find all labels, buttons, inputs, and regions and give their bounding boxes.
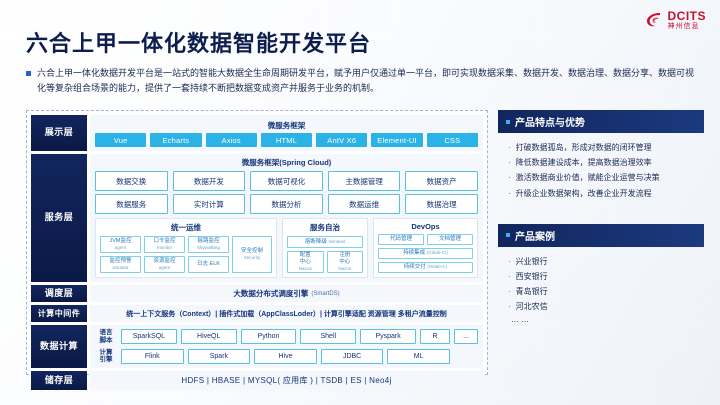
ops-cell-security-cn: 安全控制 (241, 248, 263, 255)
advantage-text-4: 升级企业数据架构，改善企业开发流程 (516, 186, 652, 201)
storage-layer-body: HDFS | HBASE | MYSQL( 应用库 ) | TSDB | ES … (90, 371, 483, 390)
compute-language-row: 语言 脚本 SparkSQL HiveQL Python Shell Pyspa… (95, 329, 478, 345)
service-modules-row-2: 数据服务 实时计算 数据分析 数据运维 数据治理 (95, 194, 478, 214)
case-item-2: · 西安银行 (508, 269, 694, 284)
module-data-development[interactable]: 数据开发 (173, 171, 246, 191)
logo-name: DCITS (668, 10, 707, 22)
head-square-icon-cases (506, 233, 510, 237)
engine-spark[interactable]: Spark (188, 349, 251, 364)
advantage-item-2: · 降低数据建设成本，提高数据治理效率 (508, 155, 694, 170)
service-modules-row-1: 数据交换 数据开发 数据可视化 主数据管理 数据资产 (95, 171, 478, 191)
advantage-item-3: · 激活数据商业价值，赋能企业运营与决策 (508, 170, 694, 185)
tech-tag-html[interactable]: HTML (261, 133, 312, 147)
panel-title-devops: DevOps (378, 222, 473, 231)
card-head-cases: 产品案例 (498, 224, 704, 247)
card-body-advantages: · 打破数据孤岛，形成对数据的闭环管理 · 降低数据建设成本，提高数据治理效率 … (498, 133, 704, 207)
tech-tag-echarts[interactable]: Echarts (150, 133, 201, 147)
advantage-text-3: 激活数据商业价值，赋能企业运营与决策 (516, 170, 660, 185)
ops-grid: JVM监控 agent 口令监控 monitor 链路监控 Skywalking (100, 236, 272, 273)
middleware-text: 统一上下文服务（Context）| 插件式加载（AppClassLoder）| … (90, 305, 483, 322)
autonomy-fuse-cn: 熔断降级 (305, 239, 327, 245)
ops-cell-jvm-monitor-cn: JVM监控 (109, 238, 131, 245)
ops-cell-log-elk[interactable]: 日志 ELK (188, 256, 229, 273)
module-data-service[interactable]: 数据服务 (95, 194, 168, 214)
ops-security-wrap: 安全控制 Security (232, 236, 272, 273)
registry-center-en: Nacos (338, 266, 351, 272)
lang-sparksql[interactable]: SparkSQL (121, 329, 177, 344)
schedule-engine-en: (SmartDS) (311, 291, 339, 297)
ops-cell-trace-monitor[interactable]: 链路监控 Skywalking (188, 236, 229, 253)
ci-cn: 持续集成 (403, 250, 425, 256)
layer-row-service: 服务层 微服务框架(Spring Cloud) 数据交换 数据开发 数据可视化 … (31, 154, 483, 282)
layer-row-compute: 数据 计算 语言 脚本 SparkSQL HiveQL Python Shell… (31, 325, 483, 368)
compute-engine-label: 计算 引擎 (95, 349, 117, 365)
bullet-dot-icon: · (508, 284, 511, 299)
service-layer-body: 微服务框架(Spring Cloud) 数据交换 数据开发 数据可视化 主数据管… (90, 154, 483, 282)
autonomy-cell-circuit-breaker[interactable]: 熔断降级 Sentinel (287, 236, 363, 248)
layer-label-compute: 数据 计算 (31, 325, 87, 368)
ops-cell-security-en: Security (244, 255, 261, 261)
schedule-engine-cn: 大数据分布式调度引擎 (233, 288, 308, 299)
ops-cell-alerting-en: actuator (112, 265, 129, 271)
bullet-dot-icon: · (508, 140, 511, 155)
subtitle-text: 六合上甲一体化数据开发平台是一站式的智能大数据全生命周期研发平台，赋予用户仅通过… (37, 66, 698, 96)
layer-row-storage: 储存层 HDFS | HBASE | MYSQL( 应用库 ) | TSDB |… (31, 371, 483, 390)
advantage-text-2: 降低数据建设成本，提高数据治理效率 (516, 155, 652, 170)
devops-top-row: 代码管理 文档管理 (378, 234, 473, 245)
compute-layer-body: 语言 脚本 SparkSQL HiveQL Python Shell Pyspa… (90, 325, 483, 368)
lang-pyspark[interactable]: Pyspark (360, 329, 416, 344)
tech-tag-css[interactable]: CSS (427, 133, 478, 147)
bullet-dot-icon: · (508, 186, 511, 201)
autonomy-fuse-en: Sentinel (328, 239, 345, 244)
tech-tag-antv[interactable]: AntV X6 (316, 133, 367, 147)
advantage-text-1: 打破数据孤岛，形成对数据的闭环管理 (516, 140, 652, 155)
bullet-square-icon (26, 71, 31, 76)
tech-tag-vue[interactable]: Vue (95, 133, 146, 147)
panel-service-autonomy: 服务自治 熔断降级 Sentinel 配置 中心 (282, 218, 368, 278)
ops-cell-log-elk-cn: 日志 ELK (197, 261, 220, 268)
case-text-1: 兴业银行 (516, 254, 548, 269)
module-master-data-management[interactable]: 主数据管理 (328, 171, 401, 191)
engine-hive[interactable]: Hive (254, 349, 317, 364)
module-data-analysis[interactable]: 数据分析 (250, 194, 323, 214)
cd-label: 持续交付 (Gitlab-C) (404, 264, 447, 271)
devops-cells: 代码管理 文档管理 持续集成 (Gitlab-CI) 持续交付 (378, 234, 473, 273)
display-layer-body: 微服务框架 Vue Echarts Axios HTML AntV X6 Ele… (90, 115, 483, 151)
lang-hiveql[interactable]: HiveQL (181, 329, 237, 344)
panel-devops: DevOps 代码管理 文档管理 持续集成 (Gitlab-CI) (373, 218, 478, 278)
layer-label-schedule: 调度层 (31, 285, 87, 302)
module-data-visualization[interactable]: 数据可视化 (250, 171, 323, 191)
dcits-swirl-icon (644, 10, 664, 30)
advantage-item-4: · 升级企业数据架构，改善企业开发流程 (508, 186, 694, 201)
lang-more[interactable]: ... (454, 329, 478, 344)
cd-cn: 持续交付 (404, 264, 426, 270)
schedule-layer-body: 大数据分布式调度引擎 (SmartDS) (90, 285, 483, 302)
architecture-diagram: 展示层 微服务框架 Vue Echarts Axios HTML AntV X6… (26, 110, 488, 375)
engine-ml[interactable]: ML (387, 349, 450, 364)
case-text-4: 河北农信 (516, 299, 548, 314)
engine-flink[interactable]: Flink (121, 349, 184, 364)
brand-logo: DCITS 神州信息 (644, 10, 707, 30)
config-center-en: Nacos (299, 266, 312, 272)
page-title: 六合上甲一体化数据智能开发平台 (26, 26, 371, 58)
case-more: …… (508, 315, 694, 324)
case-text-2: 西安银行 (516, 269, 548, 284)
compute-label-line2: 计算 (59, 341, 78, 352)
tech-tag-elementui[interactable]: Element-UI (371, 133, 422, 147)
case-text-3: 青岛银行 (516, 284, 548, 299)
lang-label-2: 脚本 (100, 337, 113, 344)
lang-r[interactable]: R (420, 329, 450, 344)
config-center-cn2: 中心 (300, 259, 311, 266)
compute-engine-row: 计算 引擎 Flink Spark Hive JDBC ML (95, 349, 478, 365)
panel-title-service-autonomy: 服务自治 (287, 222, 363, 233)
bullet-dot-icon: · (508, 155, 511, 170)
bullet-dot-icon: · (508, 299, 511, 314)
engine-label-2: 引擎 (100, 356, 113, 363)
language-items: SparkSQL HiveQL Python Shell Pyspark R .… (121, 329, 478, 344)
ops-cell-command-monitor-cn: 口令监控 (153, 238, 175, 245)
logo-subname: 神州信息 (668, 23, 707, 30)
storage-text: HDFS | HBASE | MYSQL( 应用库 ) | TSDB | ES … (90, 371, 483, 390)
case-item-4: · 河北农信 (508, 299, 694, 314)
service-sub-panels: 统一运维 JVM监控 agent 口令监控 monitor (95, 218, 478, 278)
ops-cell-resource-monitor[interactable]: 资源监控 agent (144, 256, 185, 273)
layer-label-middleware: 计算中间件 (31, 305, 87, 322)
registry-center-cn2: 中心 (339, 259, 350, 266)
devops-cell-continuous-delivery[interactable]: 持续交付 (Gitlab-C) (378, 262, 473, 273)
compute-label-line1: 数据 (40, 341, 59, 352)
card-cases: 产品案例 · 兴业银行 · 西安银行 · 青岛银行 · 河北农信 …… (498, 224, 704, 330)
compute-language-label: 语言 脚本 (95, 329, 117, 345)
ops-cell-security[interactable]: 安全控制 Security (232, 236, 272, 273)
lang-python[interactable]: Python (241, 329, 297, 344)
layer-row-schedule: 调度层 大数据分布式调度引擎 (SmartDS) (31, 285, 483, 302)
ops-cell-command-monitor[interactable]: 口令监控 monitor (144, 236, 185, 253)
middleware-layer-body: 统一上下文服务（Context）| 插件式加载（AppClassLoder）| … (90, 305, 483, 322)
ops-cell-command-monitor-en: monitor (157, 245, 172, 251)
autonomy-cell-config-center[interactable]: 配置 中心 Nacos (287, 251, 324, 273)
frontend-tag-row: Vue Echarts Axios HTML AntV X6 Element-U… (95, 133, 478, 147)
card-head-advantages: 产品特点与优势 (498, 110, 704, 133)
card-title-cases: 产品案例 (515, 228, 555, 243)
ops-cell-alerting[interactable]: 监控预警 actuator (100, 256, 141, 273)
card-title-advantages: 产品特点与优势 (515, 114, 585, 129)
devops-cell-continuous-integration[interactable]: 持续集成 (Gitlab-CI) (378, 248, 473, 259)
card-advantages: 产品特点与优势 · 打破数据孤岛，形成对数据的闭环管理 · 降低数据建设成本，提… (498, 110, 704, 207)
tech-tag-axios[interactable]: Axios (206, 133, 257, 147)
autonomy-fuse-label: 熔断降级 Sentinel (305, 239, 345, 246)
module-data-exchange[interactable]: 数据交换 (95, 171, 168, 191)
case-item-3: · 青岛银行 (508, 284, 694, 299)
module-data-operations[interactable]: 数据运维 (328, 194, 401, 214)
ci-en: (Gitlab-CI) (427, 250, 448, 255)
spring-cloud-caption: 微服务框架(Spring Cloud) (95, 157, 478, 168)
ops-cell-jvm-monitor[interactable]: JVM监控 agent (100, 236, 141, 253)
ci-label: 持续集成 (Gitlab-CI) (403, 250, 448, 257)
layer-label-storage: 储存层 (31, 371, 87, 390)
devops-cell-code-management[interactable]: 代码管理 (378, 234, 424, 245)
ops-cell-trace-monitor-cn: 链路监控 (197, 238, 219, 245)
cd-en: (Gitlab-C) (427, 264, 447, 269)
panel-unified-ops: 统一运维 JVM监控 agent 口令监控 monitor (95, 218, 277, 278)
layer-label-service: 服务层 (31, 154, 87, 282)
framework-top-label: 微服务框架 (95, 119, 478, 131)
layer-row-display: 展示层 微服务框架 Vue Echarts Axios HTML AntV X6… (31, 115, 483, 151)
panel-title-unified-ops: 统一运维 (100, 222, 272, 233)
engine-items: Flink Spark Hive JDBC ML (121, 349, 478, 364)
layer-label-display: 展示层 (31, 115, 87, 151)
ops-cell-jvm-monitor-en: agent (115, 245, 127, 251)
ops-cells: JVM监控 agent 口令监控 monitor 链路监控 Skywalking (100, 236, 229, 273)
module-data-assets[interactable]: 数据资产 (405, 171, 478, 191)
bullet-dot-icon: · (508, 170, 511, 185)
ops-cell-resource-monitor-cn: 资源监控 (153, 258, 175, 265)
bullet-dot-icon: · (508, 269, 511, 284)
lang-shell[interactable]: Shell (300, 329, 356, 344)
side-column: 产品特点与优势 · 打破数据孤岛，形成对数据的闭环管理 · 降低数据建设成本，提… (498, 110, 704, 337)
devops-cell-doc-management[interactable]: 文档管理 (427, 234, 473, 245)
autonomy-cells: 熔断降级 Sentinel 配置 中心 Nacos 注册 (287, 236, 363, 273)
engine-spacer (454, 349, 478, 364)
case-item-1: · 兴业银行 (508, 254, 694, 269)
lang-label-1: 语言 (100, 329, 113, 336)
ops-cell-alerting-cn: 监控预警 (109, 258, 131, 265)
engine-label-1: 计算 (100, 349, 113, 356)
module-data-governance[interactable]: 数据治理 (405, 194, 478, 214)
engine-jdbc[interactable]: JDBC (321, 349, 384, 364)
card-body-cases: · 兴业银行 · 西安银行 · 青岛银行 · 河北农信 …… (498, 247, 704, 330)
ops-cell-trace-monitor-en: Skywalking (197, 245, 220, 251)
subtitle-block: 六合上甲一体化数据开发平台是一站式的智能大数据全生命周期研发平台，赋予用户仅通过… (26, 66, 698, 96)
schedule-engine-text: 大数据分布式调度引擎 (SmartDS) (90, 285, 483, 302)
bullet-dot-icon: · (508, 254, 511, 269)
module-realtime-compute[interactable]: 实时计算 (173, 194, 246, 214)
ops-cell-resource-monitor-en: agent (159, 265, 171, 271)
head-square-icon-advantages (506, 120, 510, 124)
autonomy-subrow: 配置 中心 Nacos 注册 中心 Nacos (287, 251, 363, 273)
advantage-item-1: · 打破数据孤岛，形成对数据的闭环管理 (508, 140, 694, 155)
layer-row-middleware: 计算中间件 统一上下文服务（Context）| 插件式加载（AppClassLo… (31, 305, 483, 322)
autonomy-cell-registry-center[interactable]: 注册 中心 Nacos (327, 251, 364, 273)
